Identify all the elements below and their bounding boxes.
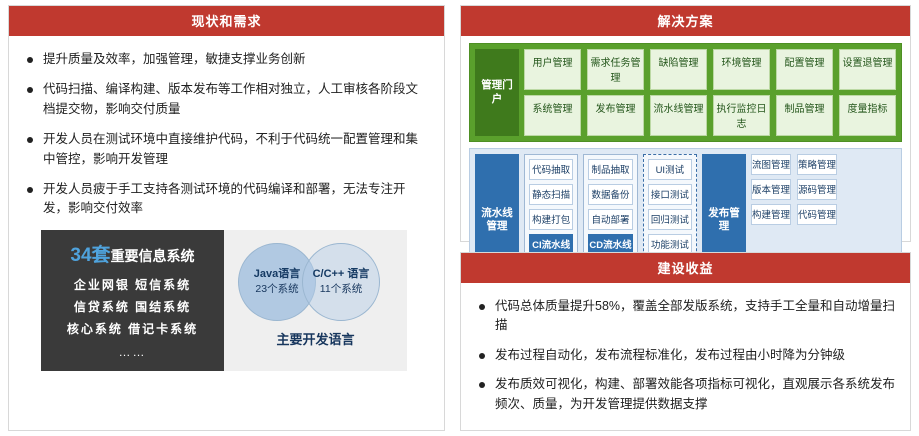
venn-circle-cpp: C/C++ 语言 11个系统 (302, 243, 380, 321)
list-item: 代码扫描、编译构建、版本发布等工作相对独立，人工审核各阶段文档提交物，影响交付质… (25, 80, 430, 119)
release-row-1: 流图管理 策略管理 (751, 154, 896, 175)
current-status-body: 提升质量及效率，加强管理，敏捷支撑业务创新 代码扫描、编译构建、版本发布等工作相… (9, 36, 444, 381)
portal-cell[interactable]: 需求任务管理 (587, 49, 644, 90)
pipeline-cell[interactable]: 制品抽取 (588, 159, 632, 180)
portal-cell[interactable]: 系统管理 (524, 95, 581, 136)
list-item: 代码总体质量提升58%，覆盖全部发版系统，支持手工全量和自动增量扫描 (477, 297, 896, 336)
venn-java-count: 23个系统 (255, 282, 298, 296)
release-cell[interactable]: 源码管理 (797, 179, 837, 200)
portal-cell[interactable]: 发布管理 (587, 95, 644, 136)
slide-root: 现状和需求 提升质量及效率，加强管理，敏捷支撑业务创新 代码扫描、编译构建、版本… (0, 0, 919, 436)
venn-java-title: Java语言 (254, 267, 300, 282)
current-status-bullet-list: 提升质量及效率，加强管理，敏捷支撑业务创新 代码扫描、编译构建、版本发布等工作相… (21, 46, 432, 219)
pipeline-cell[interactable]: UI测试 (648, 159, 692, 180)
portal-band-label: 管理门户 (475, 49, 519, 136)
pipeline-cell[interactable]: 接口测试 (648, 184, 692, 205)
list-item: 发布质效可视化，构建、部署效能各项指标可视化，直观展示各系统发布频次、质量，为开… (477, 375, 896, 414)
portal-row-2: 系统管理 发布管理 流水线管理 执行监控日志 制品管理 度量指标 (524, 95, 896, 136)
benefit-body: 代码总体质量提升58%，覆盖全部发版系统，支持手工全量和自动增量扫描 发布过程自… (461, 283, 910, 434)
solution-title: 解决方案 (461, 6, 910, 36)
portal-cell[interactable]: 设置退管理 (839, 49, 896, 90)
release-cell[interactable]: 代码管理 (797, 204, 837, 225)
portal-cell[interactable]: 制品管理 (776, 95, 833, 136)
pipeline-cell[interactable]: 代码抽取 (529, 159, 573, 180)
portal-cell[interactable]: 度量指标 (839, 95, 896, 136)
venn-cpp-count: 11个系统 (320, 282, 362, 296)
benefit-panel: 建设收益 代码总体质量提升58%，覆盖全部发版系统，支持手工全量和自动增量扫描 … (460, 252, 911, 431)
release-row-2: 版本管理 源码管理 (751, 179, 896, 200)
current-status-title: 现状和需求 (9, 6, 444, 36)
pipeline-cell[interactable]: 数据备份 (588, 184, 632, 205)
portal-cell[interactable]: 缺陷管理 (650, 49, 707, 90)
portal-band: 管理门户 用户管理 需求任务管理 缺陷管理 环境管理 配置管理 设置退管理 系统… (469, 43, 902, 142)
release-cell[interactable]: 策略管理 (797, 154, 837, 175)
portal-cell[interactable]: 流水线管理 (650, 95, 707, 136)
portal-cell[interactable]: 环境管理 (713, 49, 770, 90)
portal-cell[interactable]: 执行监控日志 (713, 95, 770, 136)
pipeline-cell[interactable]: 构建打包 (529, 209, 573, 230)
benefit-title: 建设收益 (461, 253, 910, 283)
release-cell[interactable]: 流图管理 (751, 154, 791, 175)
release-row-3: 构建管理 代码管理 (751, 204, 896, 225)
list-item: 发布过程自动化，发布流程标准化，发布过程由小时降为分钟级 (477, 346, 896, 365)
benefit-bullet-list: 代码总体质量提升58%，覆盖全部发版系统，支持手工全量和自动增量扫描 发布过程自… (473, 293, 898, 414)
system-line: 企业网银 短信系统 (49, 276, 216, 293)
list-item: 开发人员在测试环境中直接维护代码，不利于代码统一配置管理和集中管控，影响开发管理 (25, 130, 430, 169)
current-status-panel: 现状和需求 提升质量及效率，加强管理，敏捷支撑业务创新 代码扫描、编译构建、版本… (8, 5, 445, 431)
venn-diagram: Java语言 23个系统 C/C++ 语言 11个系统 (228, 239, 403, 323)
system-line: 信贷系统 国结系统 (49, 298, 216, 315)
release-cell[interactable]: 版本管理 (751, 179, 791, 200)
portal-cell[interactable]: 用户管理 (524, 49, 581, 90)
venn-caption: 主要开发语言 (224, 323, 407, 356)
systems-headline-text: 重要信息系统 (111, 248, 195, 264)
systems-card: 34套重要信息系统 企业网银 短信系统 信贷系统 国结系统 核心系统 借记卡系统… (41, 230, 224, 371)
system-ellipsis: …… (49, 345, 216, 359)
language-card: Java语言 23个系统 C/C++ 语言 11个系统 主要开发语言 (224, 230, 407, 371)
portal-cells: 用户管理 需求任务管理 缺陷管理 环境管理 配置管理 设置退管理 系统管理 发布… (519, 49, 896, 136)
list-item: 提升质量及效率，加强管理，敏捷支撑业务创新 (25, 50, 430, 69)
systems-headline: 34套重要信息系统 (49, 240, 216, 267)
pipeline-cell[interactable]: 回归测试 (648, 209, 692, 230)
list-item: 开发人员疲于手工支持各测试环境的代码编译和部署，无法专注开发，影响交付效率 (25, 180, 430, 219)
system-line: 核心系统 借记卡系统 (49, 320, 216, 337)
pipeline-cell[interactable]: 自动部署 (588, 209, 632, 230)
pipeline-cell[interactable]: 静态扫描 (529, 184, 573, 205)
release-cell[interactable]: 构建管理 (751, 204, 791, 225)
solution-panel: 解决方案 管理门户 用户管理 需求任务管理 缺陷管理 环境管理 配置管理 设置退… (460, 5, 911, 242)
venn-cpp-title: C/C++ 语言 (313, 267, 370, 282)
portal-cell[interactable]: 配置管理 (776, 49, 833, 90)
portal-row-1: 用户管理 需求任务管理 缺陷管理 环境管理 配置管理 设置退管理 (524, 49, 896, 90)
systems-count: 34套 (70, 245, 110, 266)
stat-block: 34套重要信息系统 企业网银 短信系统 信贷系统 国结系统 核心系统 借记卡系统… (21, 230, 432, 371)
